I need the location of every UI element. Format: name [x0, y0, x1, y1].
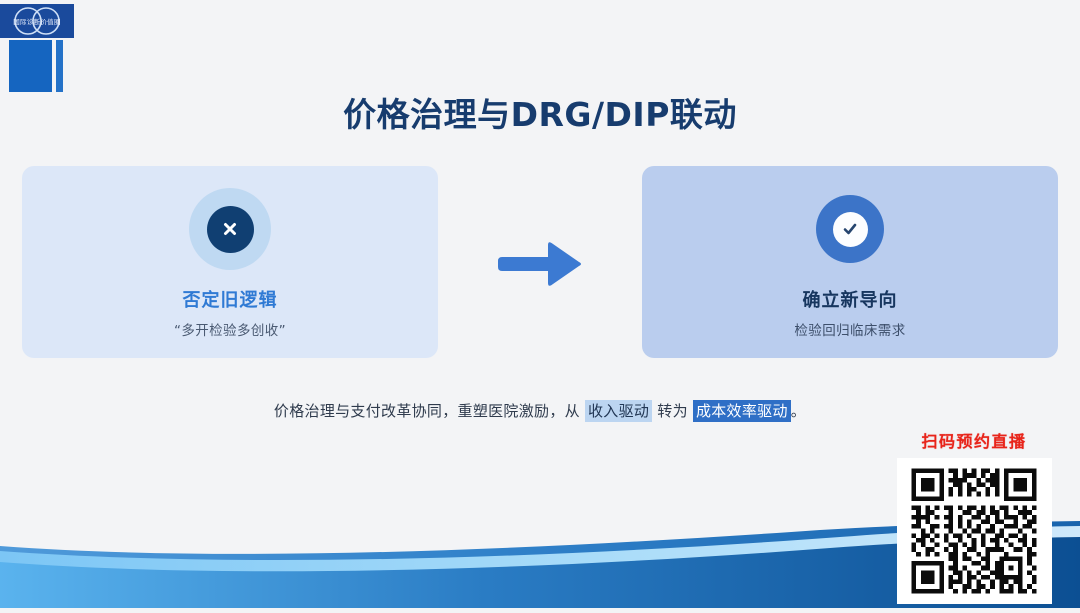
new-orientation-icon-wrap: [809, 188, 891, 270]
circle-check-inner: [833, 212, 868, 247]
circle-check-icon: [816, 195, 884, 263]
card-new-orientation-title: 确立新导向: [803, 286, 898, 312]
page-title: 价格治理与DRG/DIP联动: [0, 88, 1080, 136]
caption-part-2: 转为: [652, 402, 693, 420]
card-new-orientation: 确立新导向 检验回归临床需求: [642, 166, 1058, 358]
circle-x-inner: [207, 206, 254, 253]
qr-code-icon[interactable]: [897, 458, 1052, 604]
caption-highlight-light: 收入驱动: [585, 400, 652, 422]
x-icon: [219, 218, 241, 240]
arrow-right-icon: [496, 238, 584, 290]
card-old-logic: 否定旧逻辑 “多开检验多创收”: [22, 166, 438, 358]
caption-part-3: 。: [791, 402, 806, 420]
qr-caption: 扫码预约直播: [921, 428, 1026, 452]
logo-text: 国际诊断价值圈: [0, 4, 74, 38]
caption-text: 价格治理与支付改革协同，重塑医院激励，从 收入驱动 转为 成本效率驱动。: [0, 400, 1080, 421]
logo-accent-bar: [56, 40, 63, 92]
caption-highlight-solid: 成本效率驱动: [693, 400, 791, 422]
circle-x-icon: [189, 188, 271, 270]
old-logic-icon-wrap: [189, 188, 271, 270]
qr-promo-block: 扫码预约直播: [886, 428, 1062, 604]
caption-part-1: 价格治理与支付改革协同，重塑医院激励，从: [274, 402, 585, 420]
brand-logo: 国际诊断价值圈: [0, 4, 74, 38]
card-old-logic-subtitle: “多开检验多创收”: [174, 319, 286, 339]
check-icon: [840, 219, 860, 239]
card-new-orientation-subtitle: 检验回归临床需求: [794, 319, 905, 339]
logo-accent-block: [9, 40, 52, 92]
card-old-logic-title: 否定旧逻辑: [183, 286, 278, 312]
